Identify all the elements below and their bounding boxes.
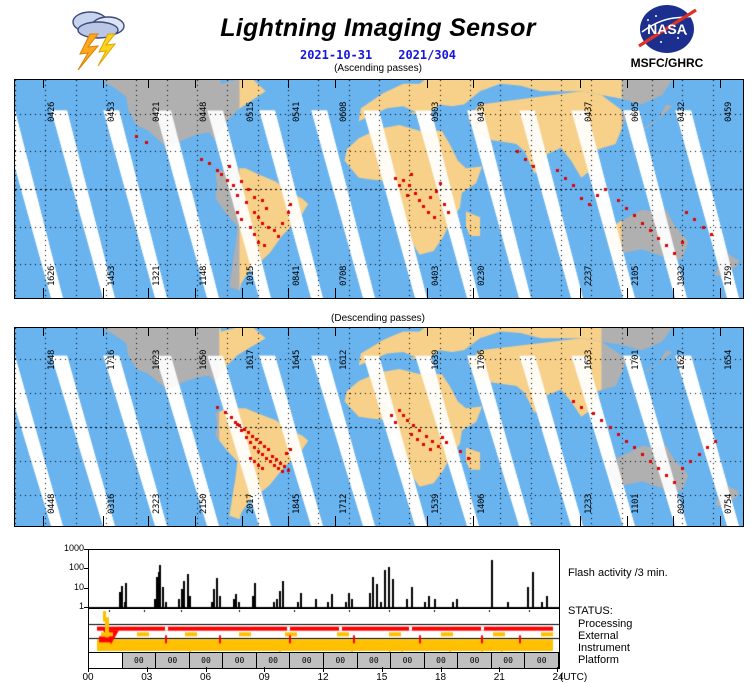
orbit-tick-bottom: [335, 288, 336, 298]
orbit-time-label-top: 0448: [199, 102, 209, 122]
orbit-time-label-top: 1648: [47, 350, 57, 370]
orbit-time-label-top: 1706: [477, 350, 487, 370]
date-doy: 2021/304: [398, 48, 456, 62]
orbit-time-label-bottom: 1321: [152, 266, 162, 286]
orbit-time-label-bottom: 2105: [631, 266, 641, 286]
time-axis-label: 12: [308, 672, 338, 683]
platform-cell[interactable]: 00: [358, 653, 392, 668]
platform-cell[interactable]: 00: [492, 653, 526, 668]
orbit-time-label-top: 0605: [631, 102, 641, 122]
orbit-time-label-bottom: 1626: [47, 266, 57, 286]
orbit-tick-top: [720, 328, 721, 336]
orbit-time-label-bottom: 1453: [107, 266, 117, 286]
legend-platform: Platform: [578, 654, 619, 666]
orbit-tick-top: [242, 328, 243, 336]
orbit-time-label-bottom: 2237: [584, 266, 594, 286]
platform-cell[interactable]: 00: [425, 653, 459, 668]
orbit-tick-top: [242, 80, 243, 88]
orbit-tick-top: [43, 328, 44, 336]
orbit-tick-bottom: [148, 516, 149, 526]
platform-cell[interactable]: 00: [525, 653, 559, 668]
time-axis-label: 21: [484, 672, 514, 683]
date-iso: 2021-10-31: [300, 48, 372, 62]
orbit-time-label-bottom: 0403: [431, 266, 441, 286]
legend-status-heading: STATUS:: [568, 605, 613, 617]
orbit-tick-bottom: [43, 516, 44, 526]
orbit-tick-bottom: [288, 516, 289, 526]
orbit-tick-bottom: [427, 288, 428, 298]
legend-processing: Processing: [578, 618, 632, 630]
orbit-time-label-top: 0432: [677, 102, 687, 122]
nasa-wordmark: NASA: [647, 21, 687, 37]
orbit-tick-top: [673, 328, 674, 336]
orbit-tick-bottom: [473, 288, 474, 298]
orbit-time-label-bottom: 2323: [152, 494, 162, 514]
center-label: MSFC/GHRC: [610, 56, 724, 70]
orbit-tick-bottom: [580, 288, 581, 298]
status-canvas: [89, 609, 559, 653]
orbit-tick-top: [43, 80, 44, 88]
legend-instrument: Instrument: [578, 642, 630, 654]
orbit-time-label-bottom: 1015: [246, 266, 256, 286]
flash-activity-canvas: [89, 550, 559, 608]
orbit-tick-bottom: [720, 516, 721, 526]
date-bar: 2021-10-312021/304: [178, 48, 578, 62]
orbit-time-label-top: 1627: [677, 350, 687, 370]
orbit-time-label-top: 1654: [724, 350, 734, 370]
flash-y-tick-label: 1: [44, 601, 84, 611]
orbit-time-label-bottom: 1759: [724, 266, 734, 286]
orbit-tick-top: [673, 80, 674, 88]
thunderstorm-icon: [60, 6, 140, 70]
orbit-time-label-bottom: 1233: [584, 494, 594, 514]
orbit-tick-top: [103, 328, 104, 336]
orbit-time-label-top: 1650: [199, 350, 209, 370]
orbit-time-label-top: 1716: [107, 350, 117, 370]
orbit-time-label-top: 0608: [339, 102, 349, 122]
orbit-tick-top: [720, 80, 721, 88]
platform-cell[interactable]: 00: [458, 653, 492, 668]
orbit-time-label-bottom: 1101: [631, 494, 641, 514]
orbit-time-label-top: 0437: [584, 102, 594, 122]
nasa-meatball-icon: NASA: [628, 4, 706, 54]
orbit-tick-bottom: [673, 288, 674, 298]
orbit-tick-bottom: [427, 516, 428, 526]
orbit-time-label-top: 0459: [724, 102, 734, 122]
orbit-tick-top: [195, 328, 196, 336]
orbit-time-label-bottom: 0754: [724, 494, 734, 514]
orbit-tick-top: [148, 328, 149, 336]
orbit-tick-bottom: [148, 288, 149, 298]
orbit-tick-top: [148, 80, 149, 88]
orbit-time-label-top: 0515: [246, 102, 256, 122]
flash-activity-panel: 1101001000 00000000000000000000000000 00…: [0, 545, 756, 680]
orbit-time-label-top: 0453: [107, 102, 117, 122]
orbit-tick-bottom: [580, 516, 581, 526]
orbit-tick-bottom: [288, 288, 289, 298]
platform-cell[interactable]: 00: [156, 653, 190, 668]
orbit-tick-top: [195, 80, 196, 88]
orbit-tick-top: [627, 80, 628, 88]
orbit-time-label-bottom: 0841: [292, 266, 302, 286]
orbit-time-label-top: 0426: [47, 102, 57, 122]
orbit-time-label-bottom: 1932: [677, 266, 687, 286]
orbit-time-label-bottom: 0927: [677, 494, 687, 514]
time-axis-label: 15: [367, 672, 397, 683]
time-axis-label: 00: [73, 672, 103, 683]
orbit-time-label-bottom: 0708: [339, 266, 349, 286]
orbit-tick-bottom: [43, 288, 44, 298]
orbit-tick-top: [335, 80, 336, 88]
orbit-tick-bottom: [103, 288, 104, 298]
platform-cell[interactable]: 00: [391, 653, 425, 668]
page-title: Lightning Imaging Sensor: [178, 14, 578, 43]
time-axis: 000306091215182124: [88, 667, 558, 683]
platform-cell[interactable]: 00: [190, 653, 224, 668]
flash-activity-plot[interactable]: [88, 549, 560, 609]
orbit-tick-top: [580, 80, 581, 88]
flash-y-tick-label: 100: [44, 562, 84, 572]
time-axis-label: 03: [132, 672, 162, 683]
orbit-tick-bottom: [627, 288, 628, 298]
platform-cell[interactable]: [89, 653, 123, 668]
orbit-tick-bottom: [195, 288, 196, 298]
time-axis-label: 06: [191, 672, 221, 683]
orbit-tick-bottom: [242, 516, 243, 526]
platform-cell[interactable]: 00: [290, 653, 324, 668]
orbit-time-label-bottom: 1712: [339, 494, 349, 514]
orbit-tick-bottom: [335, 516, 336, 526]
orbit-tick-bottom: [627, 516, 628, 526]
orbit-time-label-top: 1633: [584, 350, 594, 370]
orbit-time-label-top: 1645: [292, 350, 302, 370]
utc-unit-label: (UTC): [560, 672, 587, 683]
platform-cell[interactable]: 00: [257, 653, 291, 668]
orbit-time-label-bottom: 0448: [47, 494, 57, 514]
orbit-tick-bottom: [473, 516, 474, 526]
orbit-time-label-top: 1617: [246, 350, 256, 370]
platform-cell[interactable]: 00: [324, 653, 358, 668]
descending-passes-map[interactable]: 1648171616231650161716451612163917061633…: [14, 327, 744, 527]
orbit-time-label-top: 0421: [152, 102, 162, 122]
platform-cell[interactable]: 00: [123, 653, 157, 668]
orbit-time-label-top: 0503: [431, 102, 441, 122]
orbit-tick-top: [335, 328, 336, 336]
orbit-tick-bottom: [673, 516, 674, 526]
time-axis-label: 18: [426, 672, 456, 683]
orbit-time-label-top: 1639: [431, 350, 441, 370]
orbit-time-label-bottom: 1148: [199, 266, 209, 286]
legend-external: External: [578, 630, 618, 642]
orbit-tick-top: [473, 328, 474, 336]
orbit-time-label-top: 1612: [339, 350, 349, 370]
platform-cell[interactable]: 00: [223, 653, 257, 668]
orbit-time-label-top: 1701: [631, 350, 641, 370]
ascending-passes-map[interactable]: 0426045304210448051505410608050304300437…: [14, 79, 744, 299]
orbit-time-label-top: 0541: [292, 102, 302, 122]
orbit-tick-top: [288, 328, 289, 336]
orbit-tick-top: [427, 80, 428, 88]
orbit-time-label-bottom: 2150: [199, 494, 209, 514]
flash-y-tick-label: 10: [44, 582, 84, 592]
orbit-time-label-bottom: 1539: [431, 494, 441, 514]
orbit-tick-top: [103, 80, 104, 88]
orbit-tick-top: [473, 80, 474, 88]
legend-flash-activity: Flash activity /3 min.: [568, 567, 668, 579]
orbit-time-label-top: 1623: [152, 350, 162, 370]
orbit-time-label-bottom: 1845: [292, 494, 302, 514]
orbit-time-label-top: 0430: [477, 102, 487, 122]
caption-descending: (Descending passes): [178, 313, 578, 324]
caption-ascending: (Ascending passes): [178, 63, 578, 74]
orbit-tick-top: [427, 328, 428, 336]
orbit-tick-top: [288, 80, 289, 88]
orbit-tick-top: [627, 328, 628, 336]
status-strip[interactable]: [88, 608, 560, 654]
orbit-time-label-bottom: 0316: [107, 494, 117, 514]
orbit-time-label-bottom: 1406: [477, 494, 487, 514]
orbit-tick-bottom: [103, 516, 104, 526]
time-axis-label: 09: [249, 672, 279, 683]
orbit-tick-bottom: [720, 288, 721, 298]
orbit-time-label-bottom: 0230: [477, 266, 487, 286]
flash-y-tick-label: 1000: [44, 543, 84, 553]
page-header: Lightning Imaging Sensor 2021-10-312021/…: [0, 0, 756, 76]
orbit-time-label-bottom: 2017: [246, 494, 256, 514]
orbit-tick-bottom: [195, 516, 196, 526]
orbit-tick-bottom: [242, 288, 243, 298]
orbit-tick-top: [580, 328, 581, 336]
